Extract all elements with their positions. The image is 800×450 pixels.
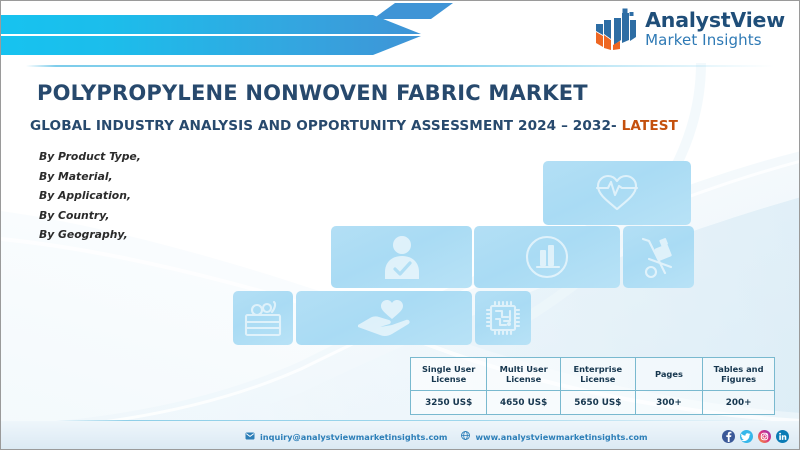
value-tables-figures: 200+ [703,391,775,415]
footer-website-link[interactable]: www.analystviewmarketinsights.com [475,432,647,442]
produce-crate-icon [243,299,283,337]
header-divider [26,65,774,67]
healthcare-tile [543,161,691,225]
linkedin-icon[interactable] [776,430,789,443]
header-line-2: License [506,374,541,384]
header-line-1: Pages [655,369,683,379]
person-check-icon [382,234,422,280]
pricing-table: Single User License Multi User License E… [410,357,775,415]
banner-band-upper [1,15,421,34]
banner-band-tip [373,3,453,19]
header-line-2: License [580,374,615,384]
brand-logo[interactable]: AnalystView Market Insights [592,7,785,51]
header-line-1: Tables and [714,364,764,374]
banner-band-lower [1,36,421,55]
table-header-single-user: Single User License [411,358,487,391]
header-line-1: Single User [422,364,475,374]
agriculture-tile [233,291,293,345]
table-header-pages: Pages [635,358,703,391]
twitter-icon[interactable] [740,430,753,443]
header-line-2: Figures [721,374,756,384]
footer-social-links [722,430,789,443]
hand-truck-icon [638,235,680,279]
hand-heart-icon [356,298,412,338]
logo-name-secondary: Market Insights [645,33,785,48]
header-line-1: Multi User [500,364,548,374]
footer-contact-group: inquiry@analystviewmarketinsights.com ww… [245,431,648,442]
table-value-row: 3250 US$ 4650 US$ 5650 US$ 300+ 200+ [411,391,775,415]
bar-chart-logo-icon [592,7,638,51]
segment-item-application: By Application, [39,186,141,206]
heart-pulse-icon [594,173,640,213]
globe-icon [461,431,470,442]
table-header-tables-figures: Tables and Figures [703,358,775,391]
segmentation-list: By Product Type, By Material, By Applica… [39,147,141,245]
footer-email-link[interactable]: inquiry@analystviewmarketinsights.com [260,432,447,442]
page-subtitle: GLOBAL INDUSTRY ANALYSIS AND OPPORTUNITY… [30,118,678,134]
header-line-2: License [431,374,466,384]
segment-item-country: By Country, [39,206,141,226]
facebook-icon[interactable] [722,430,735,443]
chart-circle-icon [524,234,570,280]
footer-bar: inquiry@analystviewmarketinsights.com ww… [1,421,800,449]
value-enterprise-price: 5650 US$ [560,391,635,415]
table-header-row: Single User License Multi User License E… [411,358,775,391]
table-header-multi-user: Multi User License [487,358,561,391]
value-multi-user-price: 4650 US$ [487,391,561,415]
hygiene-tile [331,226,472,288]
logistics-tile [623,226,694,288]
analytics-tile [474,226,620,288]
header-line-1: Enterprise [573,364,622,374]
segment-item-product-type: By Product Type, [39,147,141,167]
electronics-tile [475,291,531,345]
instagram-icon[interactable] [758,430,771,443]
report-cover-page: AnalystView Market Insights POLYPROPYLEN… [0,0,800,450]
page-title: POLYPROPYLENE NONWOVEN FABRIC MARKET [37,81,588,105]
microchip-icon [484,299,522,337]
segment-item-geography: By Geography, [39,225,141,245]
table-header-enterprise: Enterprise License [560,358,635,391]
value-single-user-price: 3250 US$ [411,391,487,415]
envelope-icon [245,432,255,442]
care-tile [296,291,472,345]
latest-badge: LATEST [622,118,678,134]
value-pages: 300+ [635,391,703,415]
segment-item-material: By Material, [39,167,141,187]
subtitle-main-text: GLOBAL INDUSTRY ANALYSIS AND OPPORTUNITY… [30,118,617,134]
logo-name-primary: AnalystView [645,10,785,31]
